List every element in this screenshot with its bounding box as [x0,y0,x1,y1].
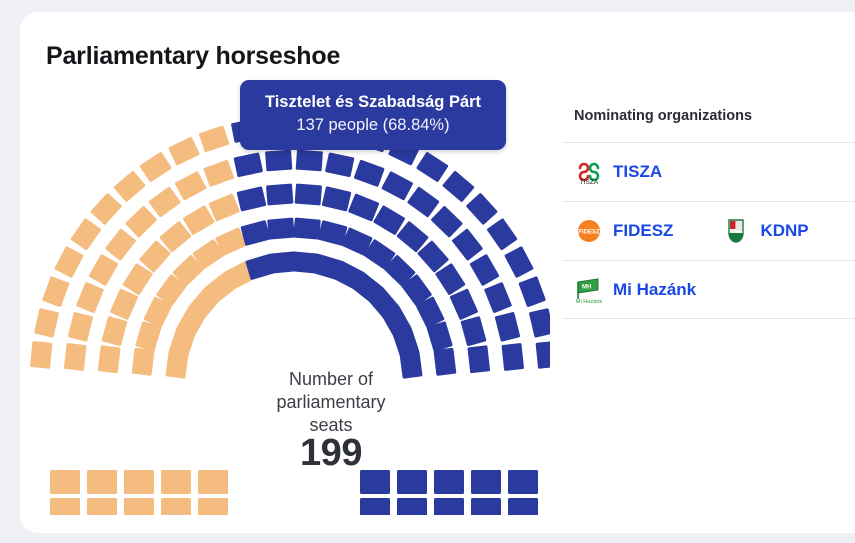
seat[interactable] [124,498,154,515]
organization-name: FIDESZ [613,221,673,241]
seat-tooltip: Tisztelet és Szabadság Párt 137 people (… [240,80,506,150]
seat[interactable] [434,498,464,515]
parliamentary-horseshoe-chart[interactable]: Number of parliamentary seats 199 [30,95,550,515]
seat[interactable] [161,498,191,515]
seat[interactable] [360,470,390,494]
seat[interactable] [50,470,80,494]
seat[interactable] [466,193,498,226]
organization-name: Mi Hazánk [613,280,696,300]
tooltip-party-name: Tisztelet és Szabadság Párt [254,91,492,113]
seat[interactable] [449,288,478,320]
seat[interactable] [209,193,241,221]
seat[interactable] [237,186,267,211]
seat[interactable] [34,308,59,338]
seat[interactable] [469,254,499,287]
seat[interactable] [199,125,230,152]
seat[interactable] [198,470,228,494]
organization-link-kdnp[interactable]: KDNP [721,216,808,246]
seat[interactable] [484,282,512,314]
organization-link-tisza[interactable]: TISZATISZA [574,157,662,187]
seat[interactable] [518,276,546,307]
seat[interactable] [168,136,200,165]
organization-link-fidesz[interactable]: FIDESZFIDESZ [574,216,673,246]
seat[interactable] [175,171,207,201]
tisza-logo-icon: TISZA [574,157,604,187]
seat[interactable] [322,186,352,211]
legend-row: FIDESZFIDESZKDNP [562,201,855,260]
seat[interactable] [295,184,322,206]
seat[interactable] [486,218,517,251]
seat[interactable] [70,218,101,251]
seat[interactable] [125,205,158,237]
svg-text:MH: MH [582,284,591,290]
seat[interactable] [87,470,117,494]
legend-row: MHMi HazánkMi Hazánk [562,260,855,319]
seat[interactable] [54,246,84,278]
seat[interactable] [64,343,87,371]
seat[interactable] [124,470,154,494]
seat[interactable] [501,343,524,371]
seat[interactable] [434,470,464,494]
seat[interactable] [495,312,521,342]
organization-name: KDNP [760,221,808,241]
seat[interactable] [354,159,385,187]
seat[interactable] [68,312,94,342]
seat[interactable] [426,321,453,352]
seat[interactable] [240,220,270,246]
seat[interactable] [76,282,104,314]
kdnp-logo-icon [721,216,751,246]
seat[interactable] [381,171,413,201]
seat[interactable] [296,150,323,172]
seat[interactable] [105,228,137,261]
seat[interactable] [325,152,355,177]
seat[interactable] [529,308,550,338]
seat[interactable] [504,246,534,278]
seat[interactable] [30,341,52,369]
seat[interactable] [431,205,464,237]
page-title: Parliamentary horseshoe [46,42,340,71]
seat-diagram[interactable] [30,95,550,515]
seat[interactable] [399,350,422,378]
seat[interactable] [471,470,501,494]
seat[interactable] [90,193,122,226]
svg-text:TISZA: TISZA [580,179,599,186]
seat[interactable] [266,184,293,206]
seat[interactable] [198,498,228,515]
seat[interactable] [397,498,427,515]
seat[interactable] [452,228,484,261]
seat[interactable] [113,170,146,202]
mihazank-logo-icon: MHMi Hazánk [574,275,604,305]
seat[interactable] [407,186,440,217]
seat[interactable] [508,470,538,494]
seat[interactable] [98,345,121,373]
seat[interactable] [267,218,295,240]
seat[interactable] [460,316,486,346]
seat[interactable] [471,498,501,515]
seat[interactable] [148,186,181,217]
seat[interactable] [360,498,390,515]
seat[interactable] [110,288,139,320]
svg-text:Mi Hazánk: Mi Hazánk [576,299,603,305]
seat[interactable] [50,498,80,515]
seat[interactable] [203,159,234,187]
seat[interactable] [348,193,380,221]
seat[interactable] [416,152,449,183]
seat[interactable] [467,345,490,373]
seat[interactable] [536,341,550,369]
seat[interactable] [433,348,456,376]
fidesz-logo-icon: FIDESZ [574,216,604,246]
seat[interactable] [293,218,321,240]
legend-row-list: TISZATISZAFIDESZFIDESZKDNPMHMi HazánkMi … [562,142,855,319]
seat[interactable] [42,276,70,307]
organization-name: TISZA [613,162,662,182]
seat[interactable] [139,152,172,183]
seat[interactable] [87,498,117,515]
tooltip-party-detail: 137 people (68.84%) [254,113,492,137]
organization-link-mi-hazánk[interactable]: MHMi HazánkMi Hazánk [574,275,696,305]
screen: Parliamentary horseshoe Number of parlia… [0,0,855,543]
seat[interactable] [442,170,475,202]
seat[interactable] [88,254,118,287]
legend-panel: Nominating organizations TISZATISZAFIDES… [562,108,855,319]
legend-row: TISZATISZA [562,142,855,201]
legend-title: Nominating organizations [562,108,855,142]
svg-text:FIDESZ: FIDESZ [578,230,600,236]
seat[interactable] [234,152,264,177]
seat[interactable] [265,150,292,172]
seat[interactable] [161,470,191,494]
seat[interactable] [397,470,427,494]
seat[interactable] [101,316,127,346]
seat[interactable] [132,348,155,376]
seat[interactable] [508,498,538,515]
